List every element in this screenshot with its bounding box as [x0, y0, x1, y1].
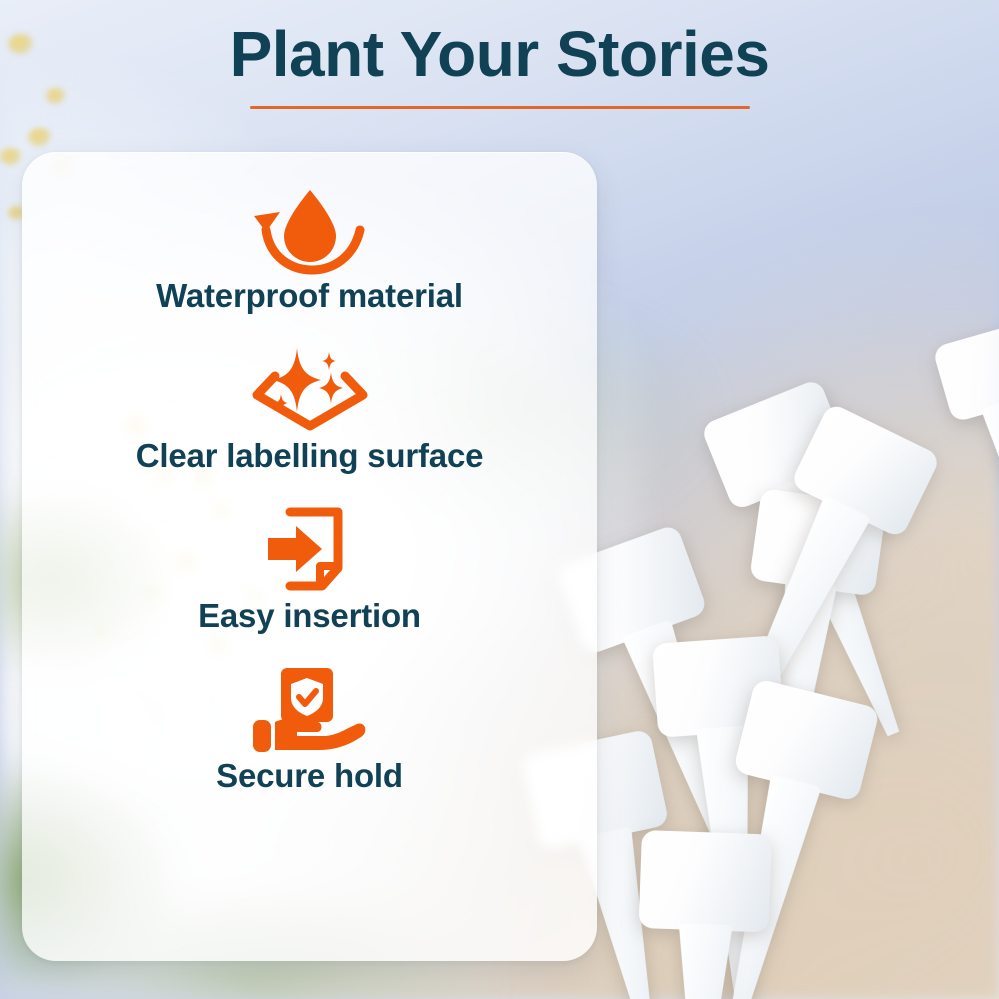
feature-item-secure-hold: Secure hold [22, 666, 597, 796]
hand-holding-shield-check-icon [22, 666, 597, 752]
feature-label: Easy insertion [22, 596, 597, 636]
feature-item-waterproof: Waterproof material [22, 186, 597, 316]
feature-label: Clear labelling surface [22, 436, 597, 476]
infographic-canvas: Plant Your Stories Waterproof material [0, 0, 999, 999]
feature-label: Waterproof material [22, 276, 597, 316]
title-underline-rule [250, 106, 750, 109]
feature-list: Waterproof material Clear labelling surf… [22, 186, 597, 826]
feature-item-easy-insertion: Easy insertion [22, 506, 597, 636]
sparkle-diamond-surface-icon [22, 346, 597, 432]
feature-item-clear-surface: Clear labelling surface [22, 346, 597, 476]
feature-label: Secure hold [22, 756, 597, 796]
header: Plant Your Stories [0, 18, 999, 109]
arrow-into-document-icon [22, 506, 597, 592]
page-title: Plant Your Stories [0, 18, 999, 90]
water-droplet-repellent-icon [22, 186, 597, 272]
